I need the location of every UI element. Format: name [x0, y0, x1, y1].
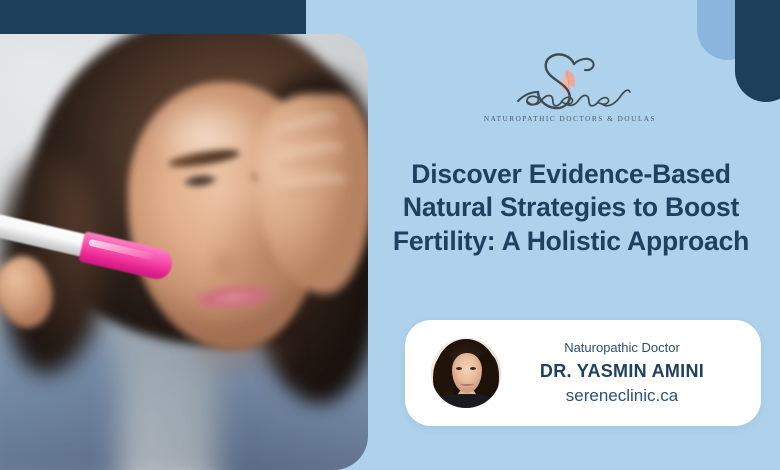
hero-photo-illustration [0, 34, 368, 470]
brand-logo: NATUROPATHIC DOCTORS & DOULAS [470, 48, 670, 134]
avatar [431, 338, 501, 408]
brand-tagline: NATUROPATHIC DOCTORS & DOULAS [470, 115, 670, 123]
avatar-eye-left [456, 367, 462, 370]
presenter-role: Naturopathic Doctor [505, 338, 739, 358]
presenter-name: DR. YASMIN AMINI [505, 358, 739, 384]
presenter-card: Naturopathic Doctor DR. YASMIN AMINI ser… [405, 320, 761, 426]
presenter-details: Naturopathic Doctor DR. YASMIN AMINI ser… [501, 338, 739, 407]
page-title: Discover Evidence-Based Natural Strategi… [382, 158, 760, 258]
promo-graphic-canvas: NATUROPATHIC DOCTORS & DOULAS Discover E… [0, 0, 780, 470]
hero-photo [0, 34, 368, 470]
avatar-smile [460, 380, 474, 386]
photo-overlay [0, 34, 368, 470]
rounded-navy-pill-shape [735, 0, 780, 102]
brand-logo-mark [470, 48, 670, 114]
avatar-clothing [441, 394, 491, 408]
navy-top-band [0, 0, 306, 35]
serene-script-icon [470, 48, 670, 114]
presenter-website: sereneclinic.ca [505, 384, 739, 408]
avatar-eye-right [470, 367, 476, 370]
